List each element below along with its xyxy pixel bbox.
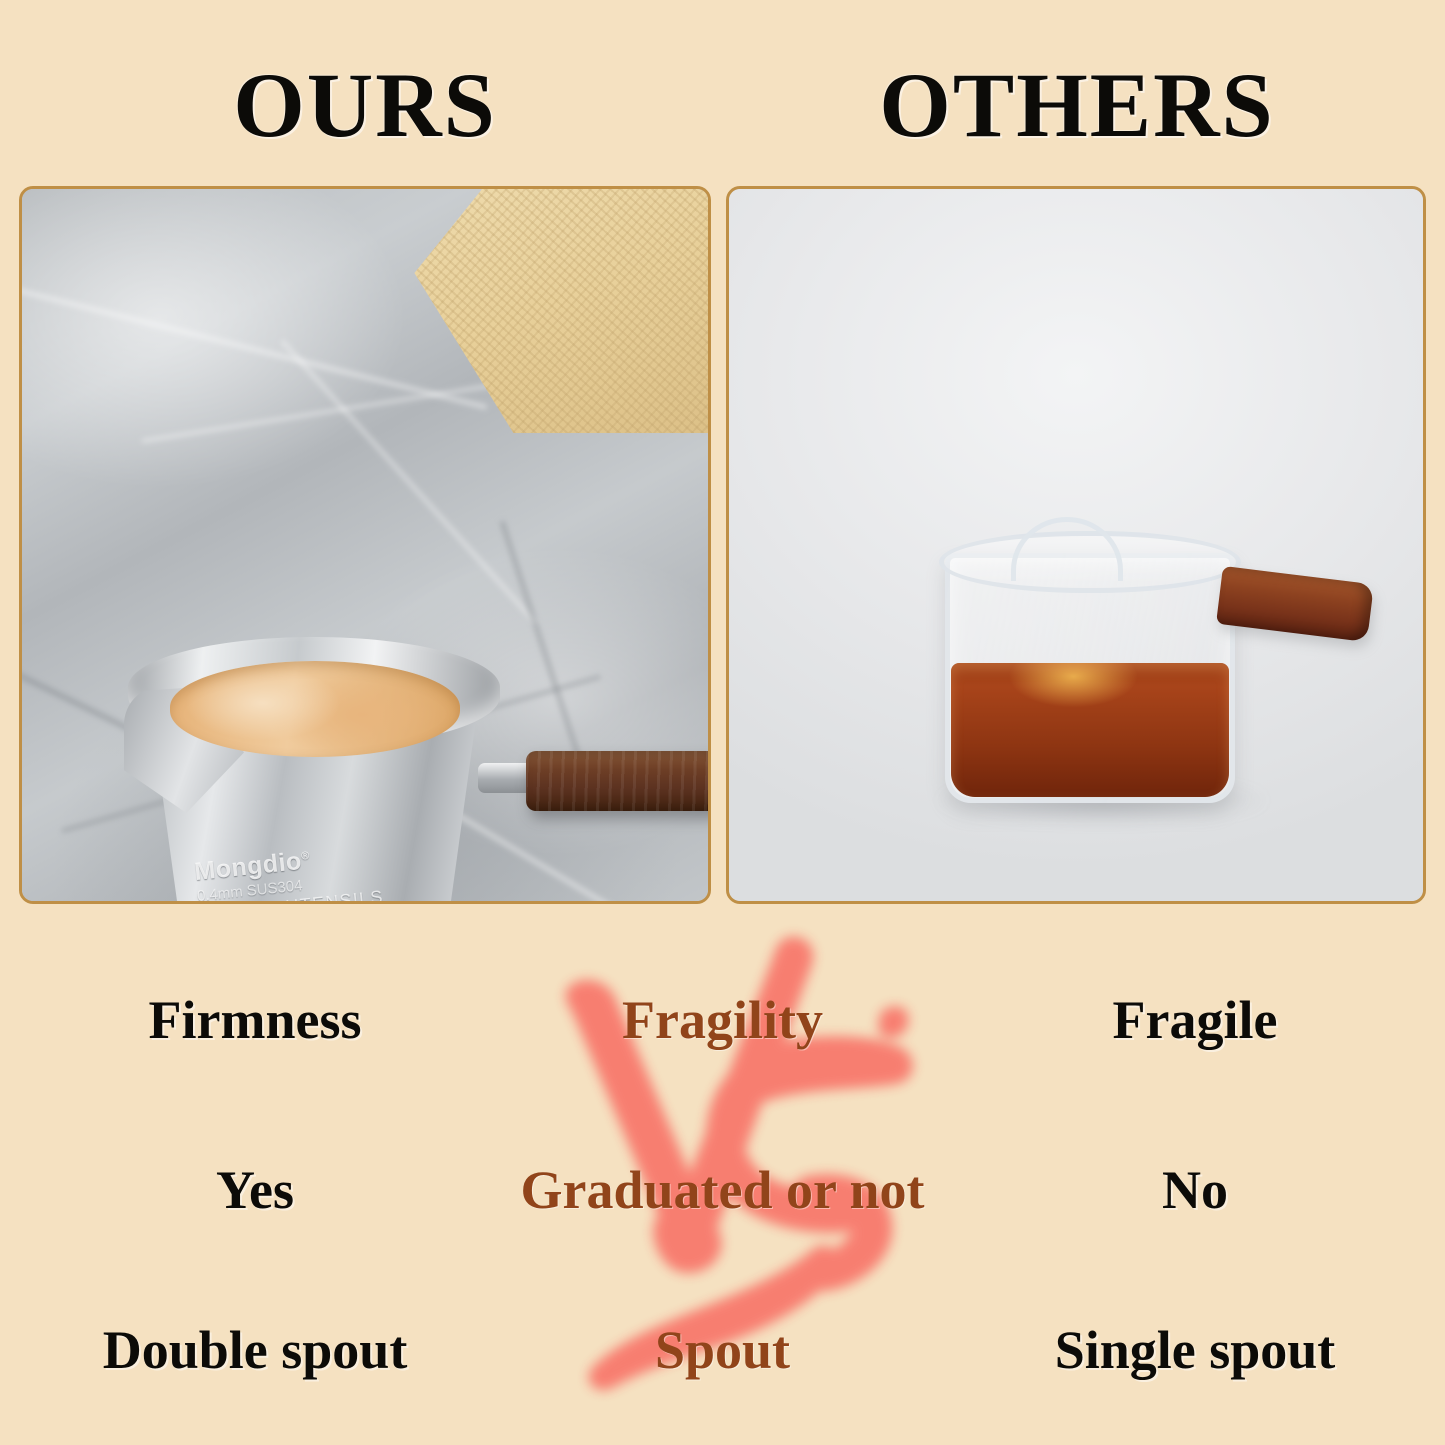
comparison-row: Double spout Spout Single spout: [0, 1315, 1445, 1385]
row-0-ours-value: Firmness: [20, 985, 490, 1055]
comparison-row: Firmness Fragility Fragile: [0, 985, 1445, 1055]
row-1-others-value: No: [960, 1155, 1430, 1225]
comparison-infographic: OURS OTHERS Mongdio® 0.: [0, 0, 1445, 1445]
row-0-feature-label: Fragility: [470, 985, 975, 1055]
heading-ours: OURS: [20, 52, 710, 158]
row-2-feature-label: Spout: [470, 1315, 975, 1385]
wooden-handle: [526, 751, 711, 811]
glass-pitcher: [927, 425, 1347, 815]
row-2-others-value: Single spout: [960, 1315, 1430, 1385]
espresso-liquid: [951, 663, 1229, 797]
headings-row: OURS OTHERS: [0, 52, 1445, 162]
registered-mark-icon: ®: [301, 850, 311, 863]
espresso-crema: [170, 661, 460, 757]
row-1-ours-value: Yes: [20, 1155, 490, 1225]
stainless-steel-pitcher: Mongdio® 0.4mm SUS304 COFFEE UTENSILS: [122, 609, 542, 904]
glass-single-spout: [1011, 517, 1123, 581]
row-2-ours-value: Double spout: [20, 1315, 490, 1385]
product-photo-others: [726, 186, 1426, 904]
comparison-row: Yes Graduated or not No: [0, 1155, 1445, 1225]
product-photo-ours: Mongdio® 0.4mm SUS304 COFFEE UTENSILS: [19, 186, 711, 904]
row-0-others-value: Fragile: [960, 985, 1430, 1055]
heading-others: OTHERS: [727, 52, 1427, 158]
row-1-feature-label: Graduated or not: [470, 1155, 975, 1225]
